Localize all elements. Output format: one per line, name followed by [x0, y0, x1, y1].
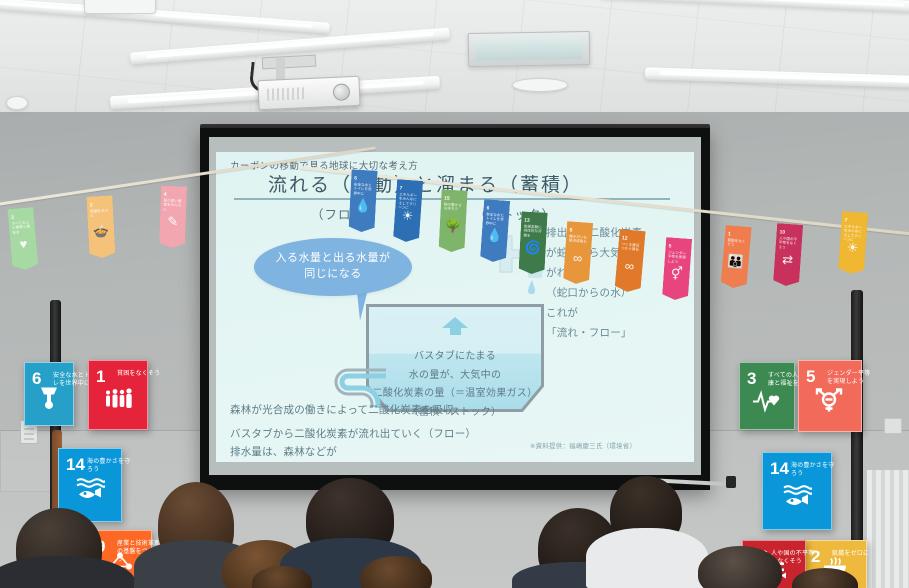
flag-glyph-icon: 🌳	[444, 218, 461, 235]
sdg-cube-label: 海の豊かさを守ろう	[791, 462, 835, 478]
photo-scene: カーボンの移動で見る地球に大切な考え方 流れる（移動）と溜まる（蓄積） （フロー…	[0, 0, 909, 588]
water-drop-icon	[34, 385, 64, 411]
bunting-flag: 1貧困をなくそう👪	[720, 225, 751, 289]
flag-label: 安全な水とトイレを世界中に	[353, 183, 374, 197]
flag-number: 4	[164, 192, 167, 198]
flag-glyph-icon: ☀	[846, 240, 859, 257]
bunting-flag: 10人や国の不平等をなくそう⇄	[773, 223, 803, 287]
flag-glyph-icon: ⇄	[782, 252, 794, 269]
flag-label: 安全な水とトイレを世界中に	[485, 212, 506, 227]
screen-pull-knob[interactable]	[726, 476, 736, 488]
flag-label: 飢餓をゼロに	[90, 209, 110, 219]
flag-number: 6	[486, 205, 489, 211]
bunting-flag: 12つくる責任つかう責任∞	[614, 229, 645, 293]
sdg-cube-icon-wrap	[103, 386, 133, 417]
flag-label: ジェンダー平等を実現しよう	[667, 250, 688, 265]
sdg-cube-icon-wrap	[75, 477, 105, 508]
bottom-line-1: 森林が光合成の働きによって二酸化炭素を吸収	[230, 402, 650, 420]
flag-glyph-icon: ⚥	[670, 266, 683, 283]
flag-glyph-icon: ☀	[401, 208, 414, 225]
flag-number: 1	[728, 231, 731, 237]
flag-glyph-icon: 🍲	[93, 224, 110, 241]
projector-vents-icon	[267, 87, 307, 101]
bunting-flag: 6安全な水とトイレを世界中に💧	[480, 199, 510, 263]
sdg-cube-icon-wrap	[752, 387, 782, 418]
speaker-icon	[84, 0, 156, 14]
bathtub-diagram: バスタブにたまる 水の量が、大気中の 二酸化炭素の量（＝温室効果ガス） （蓄積・…	[366, 304, 544, 412]
flag-glyph-icon: 🌀	[524, 240, 541, 257]
flag-label: 働きがいも経済成長も	[569, 234, 590, 244]
bunting-flag: 13気候変動に具体的な対策を🌀	[518, 211, 547, 274]
projector-mount-pole	[276, 58, 285, 80]
slide-bottom-text: 森林が光合成の働きによって二酸化炭素を吸収 バスタブから二酸化炭素が流れ出ていく…	[230, 402, 650, 462]
flag-label: 気候変動に具体的な対策を	[523, 225, 544, 239]
sdg-cube-label: 海の豊かさを守ろう	[87, 458, 131, 474]
sdg-cube: 1貧困をなくそう	[88, 360, 148, 430]
bunting-flag: 4質の高い教育をみんなに✎	[159, 186, 187, 249]
sdg-cube-number: 5	[806, 368, 815, 385]
flag-label: 貧困をなくそう	[727, 238, 748, 249]
sdg-cube-number: 3	[747, 370, 756, 387]
flag-number: 15	[444, 196, 450, 202]
flag-number: 2	[90, 202, 93, 208]
flag-glyph-icon: ✎	[167, 214, 178, 230]
flag-number: 12	[622, 235, 628, 241]
bunting-flag: 2飢餓をゼロに🍲	[86, 195, 115, 258]
flag-number: 13	[524, 218, 530, 224]
sdg-cube-icon-wrap	[815, 388, 845, 419]
ceiling	[0, 0, 909, 128]
sprinkler-icon	[6, 96, 28, 110]
projector-lens-icon	[333, 83, 351, 101]
sdg-cube-icon-wrap	[782, 483, 812, 514]
ceiling-projector	[257, 76, 360, 110]
family-icon	[103, 386, 133, 412]
vent-grille	[476, 37, 582, 61]
fish-waves-icon	[75, 477, 105, 503]
flag-label: 人や国の不平等をなくそう	[778, 236, 799, 251]
sdg-cube-icon-wrap	[34, 385, 64, 416]
flag-label: 陸の豊かさも守ろう	[443, 203, 463, 213]
sdg-cube-number: 14	[770, 460, 789, 477]
tub-line-2: 水の量が、大気中の	[366, 367, 544, 386]
flag-number: 5	[668, 243, 671, 249]
fish-waves-icon	[782, 483, 812, 509]
bunting-flag: 5ジェンダー平等を実現しよう⚥	[662, 237, 692, 301]
sdg-cube-label: 貧困をなくそう	[117, 370, 161, 378]
sdg-cube: 14海の豊かさを守ろう	[762, 452, 832, 530]
bunting-flag: 7エネルギーをみんなにそしてクリーンに☀	[393, 179, 423, 243]
up-arrow-stem	[450, 328, 461, 335]
flag-number: 10	[779, 229, 785, 235]
flag-glyph-icon: ♥	[19, 236, 28, 252]
gender-icon	[815, 388, 845, 414]
ceiling-air-vent	[468, 31, 591, 67]
sdg-cube-label: ジェンダー平等を実現しよう	[827, 370, 871, 386]
heartbeat-icon	[752, 387, 782, 413]
audience-body	[586, 528, 708, 588]
tub-line-3: 二酸化炭素の量（＝温室効果ガス）	[366, 385, 544, 404]
flag-glyph-icon: ∞	[624, 258, 635, 274]
window-blinds	[866, 470, 909, 588]
bubble-line-1: 入る水量と出る水量が	[276, 251, 391, 267]
bunting-flag: 6安全な水とトイレを世界中に💧	[348, 169, 377, 232]
sdg-cube-number: 1	[96, 368, 105, 385]
flag-glyph-icon: 💧	[486, 227, 503, 244]
bunting-flag: 7エネルギーをみんなにそしてクリーンに☀	[838, 211, 868, 275]
flag-number: 8	[569, 227, 572, 233]
right-line-5: これが	[546, 304, 692, 324]
flag-number: 6	[354, 176, 357, 182]
bubble-line-2: 同じになる	[304, 267, 362, 283]
sdg-cube-number: 14	[66, 456, 85, 473]
flag-label: つくる責任つかう責任	[621, 242, 642, 253]
sdg-cube: 6安全な水とトイレを世界中に	[24, 362, 74, 426]
right-line-6: 「流れ・フロー」	[546, 324, 692, 344]
bunting-flag: 3すべての人に健康と福祉を♥	[7, 207, 38, 271]
sdg-cube: 3すべての人に健康と福祉を	[739, 362, 795, 430]
flag-glyph-icon: ∞	[573, 250, 583, 266]
flag-label: 質の高い教育をみんなに	[163, 199, 183, 213]
up-arrow-icon	[442, 317, 468, 328]
smoke-detector-icon	[512, 78, 568, 92]
flag-glyph-icon: 👪	[727, 253, 745, 270]
bunting-flag: 8働きがいも経済成長も∞	[563, 221, 593, 285]
flag-label: すべての人に健康と福祉を	[11, 220, 32, 235]
flag-glyph-icon: 💧	[354, 198, 371, 215]
drain-pipe-icon	[322, 362, 388, 406]
speech-bubble: 入る水量と出る水量が 同じになる	[254, 238, 412, 296]
slide-credit: ※資料提供：福嶋慶三氏（環境省）	[530, 440, 636, 450]
sdg-cube: 5ジェンダー平等を実現しよう	[798, 360, 862, 432]
wall-bracket	[884, 418, 902, 434]
flag-number: 3	[11, 215, 14, 221]
bunting-flag: 15陸の豊かさも守ろう🌳	[438, 189, 467, 252]
flag-number: 7	[844, 217, 847, 223]
flag-number: 7	[399, 185, 402, 191]
tub-line-1: バスタブにたまる	[366, 348, 544, 367]
